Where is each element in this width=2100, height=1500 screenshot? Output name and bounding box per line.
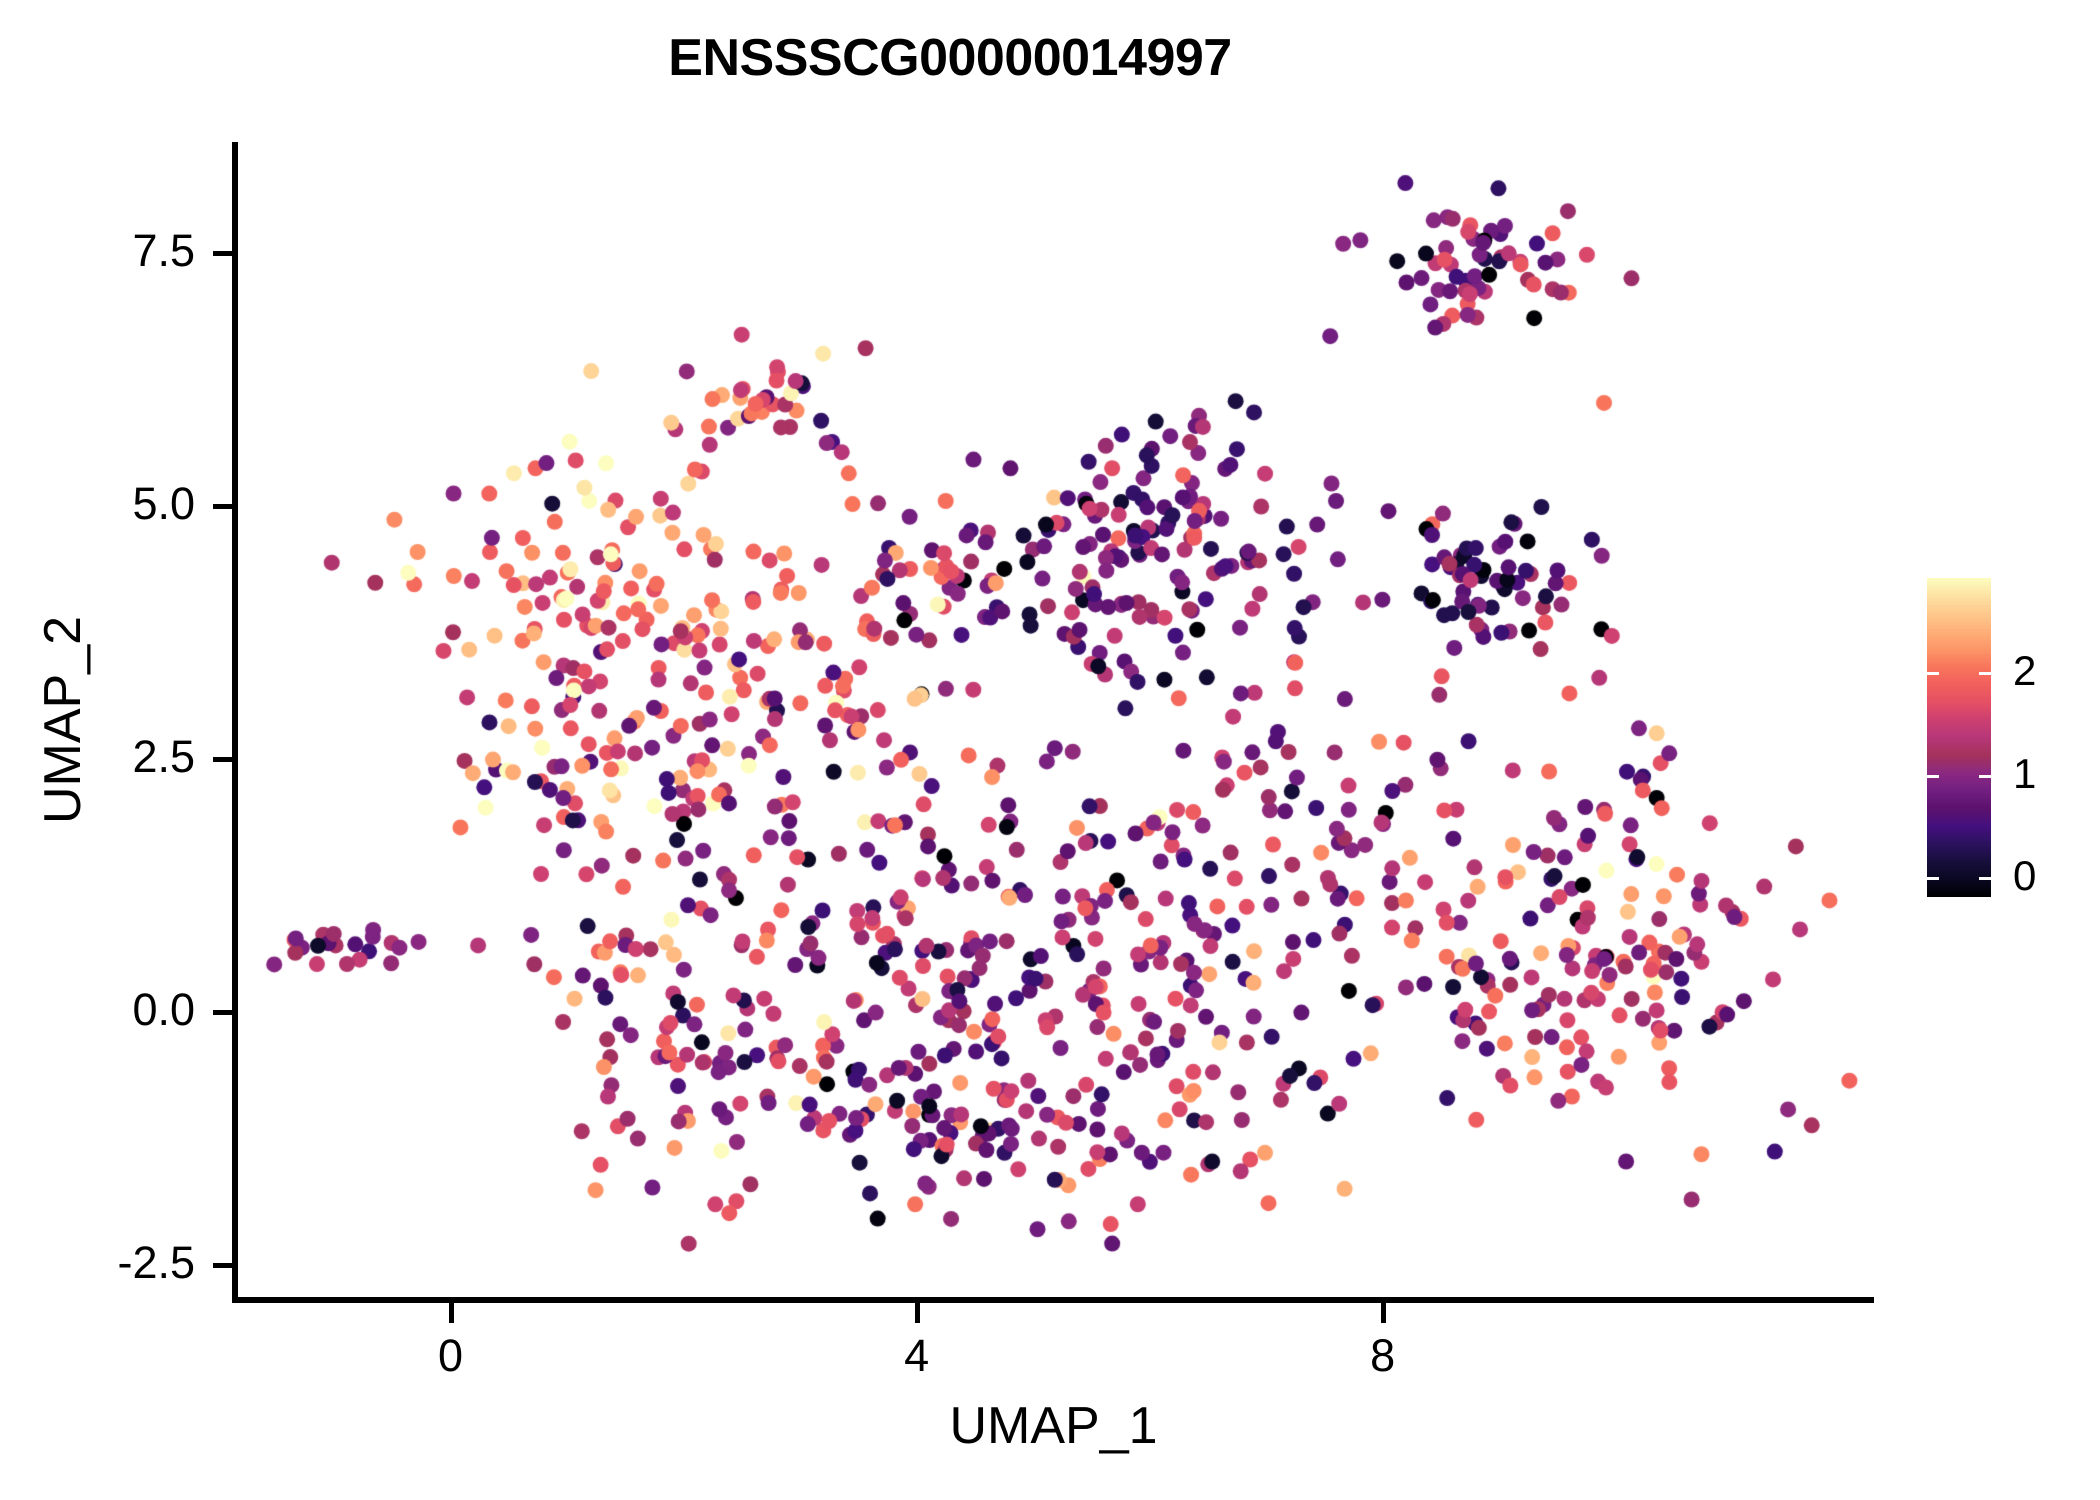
y-axis-title: UMAP_2	[33, 370, 93, 1070]
y-tick-label: 0.0	[55, 984, 195, 1036]
y-tick-label: 7.5	[55, 225, 195, 277]
color-legend-label: 2	[2013, 647, 2083, 695]
scatter-points-canvas	[235, 142, 1872, 1300]
color-legend: 210	[1927, 578, 2097, 908]
y-tick-label: -2.5	[55, 1237, 195, 1289]
x-axis-line	[232, 1297, 1874, 1303]
x-tick-label: 0	[381, 1330, 521, 1382]
color-legend-tick-mark	[1979, 672, 1991, 675]
x-tick-mark	[915, 1303, 920, 1323]
y-tick-mark	[213, 251, 233, 256]
y-tick-mark	[213, 504, 233, 509]
x-tick-mark	[449, 1303, 454, 1323]
color-legend-tick-mark	[1927, 877, 1939, 880]
color-legend-tick-mark	[1979, 775, 1991, 778]
y-tick-label: 5.0	[55, 478, 195, 530]
chart-root: ENSSSCG00000014997 UMAP_2 -2.50.02.55.07…	[0, 0, 2100, 1500]
y-tick-mark	[213, 1010, 233, 1015]
x-tick-mark	[1381, 1303, 1386, 1323]
y-axis-line	[232, 142, 238, 1303]
page-title: ENSSSCG00000014997	[0, 28, 1900, 88]
color-legend-label: 1	[2013, 750, 2083, 798]
color-legend-tick-mark	[1927, 672, 1939, 675]
color-legend-label: 0	[2013, 852, 2083, 900]
y-tick-label: 2.5	[55, 731, 195, 783]
y-tick-mark	[213, 1263, 233, 1268]
x-tick-label: 8	[1313, 1330, 1453, 1382]
color-legend-gradient	[1927, 578, 1991, 897]
color-legend-tick-mark	[1927, 775, 1939, 778]
color-legend-tick-mark	[1979, 877, 1991, 880]
y-tick-mark	[213, 757, 233, 762]
x-axis-title: UMAP_1	[235, 1396, 1872, 1456]
x-tick-label: 4	[847, 1330, 987, 1382]
plot-panel	[235, 142, 1872, 1300]
